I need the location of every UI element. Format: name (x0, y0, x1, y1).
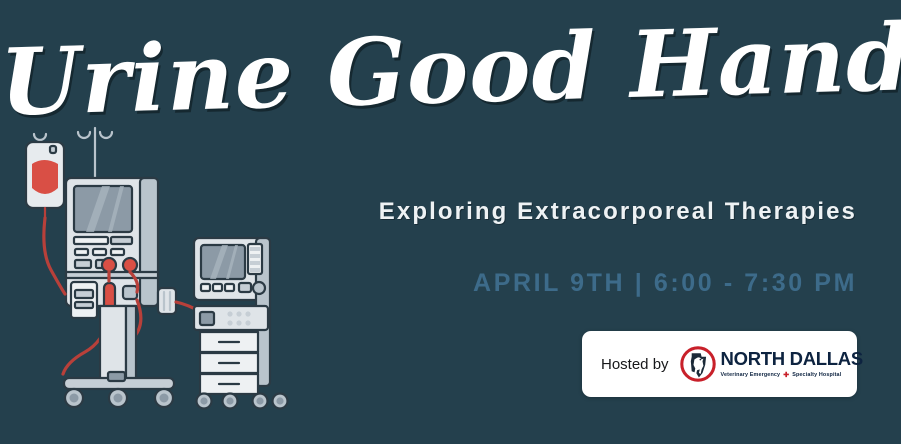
event-banner: Urine Good Hands Exploring Extracorporea… (0, 0, 901, 444)
logo-tagline: Veterinary Emergency ✚ Specialty Hospita… (721, 372, 863, 379)
event-title: Urine Good Hands (0, 9, 901, 131)
cross-icon: ✚ (783, 372, 789, 379)
logo-company-name: NORTH DALLAS (721, 348, 863, 369)
event-datetime: APRIL 9TH | 6:00 - 7:30 PM (473, 269, 857, 298)
event-subtitle: Exploring Extracorporeal Therapies (379, 198, 857, 226)
texas-dog-logo-icon (680, 346, 716, 382)
hosted-by-label: Hosted by (601, 356, 669, 373)
hosted-by-card: Hosted by NORTH DALLAS Veterinary Emerge… (582, 331, 857, 397)
logo-tagline-right: Specialty Hospital (792, 372, 841, 378)
dialysis-illustration (8, 120, 298, 410)
north-dallas-logo: NORTH DALLAS Veterinary Emergency ✚ Spec… (680, 346, 863, 382)
logo-tagline-left: Veterinary Emergency (721, 372, 781, 378)
